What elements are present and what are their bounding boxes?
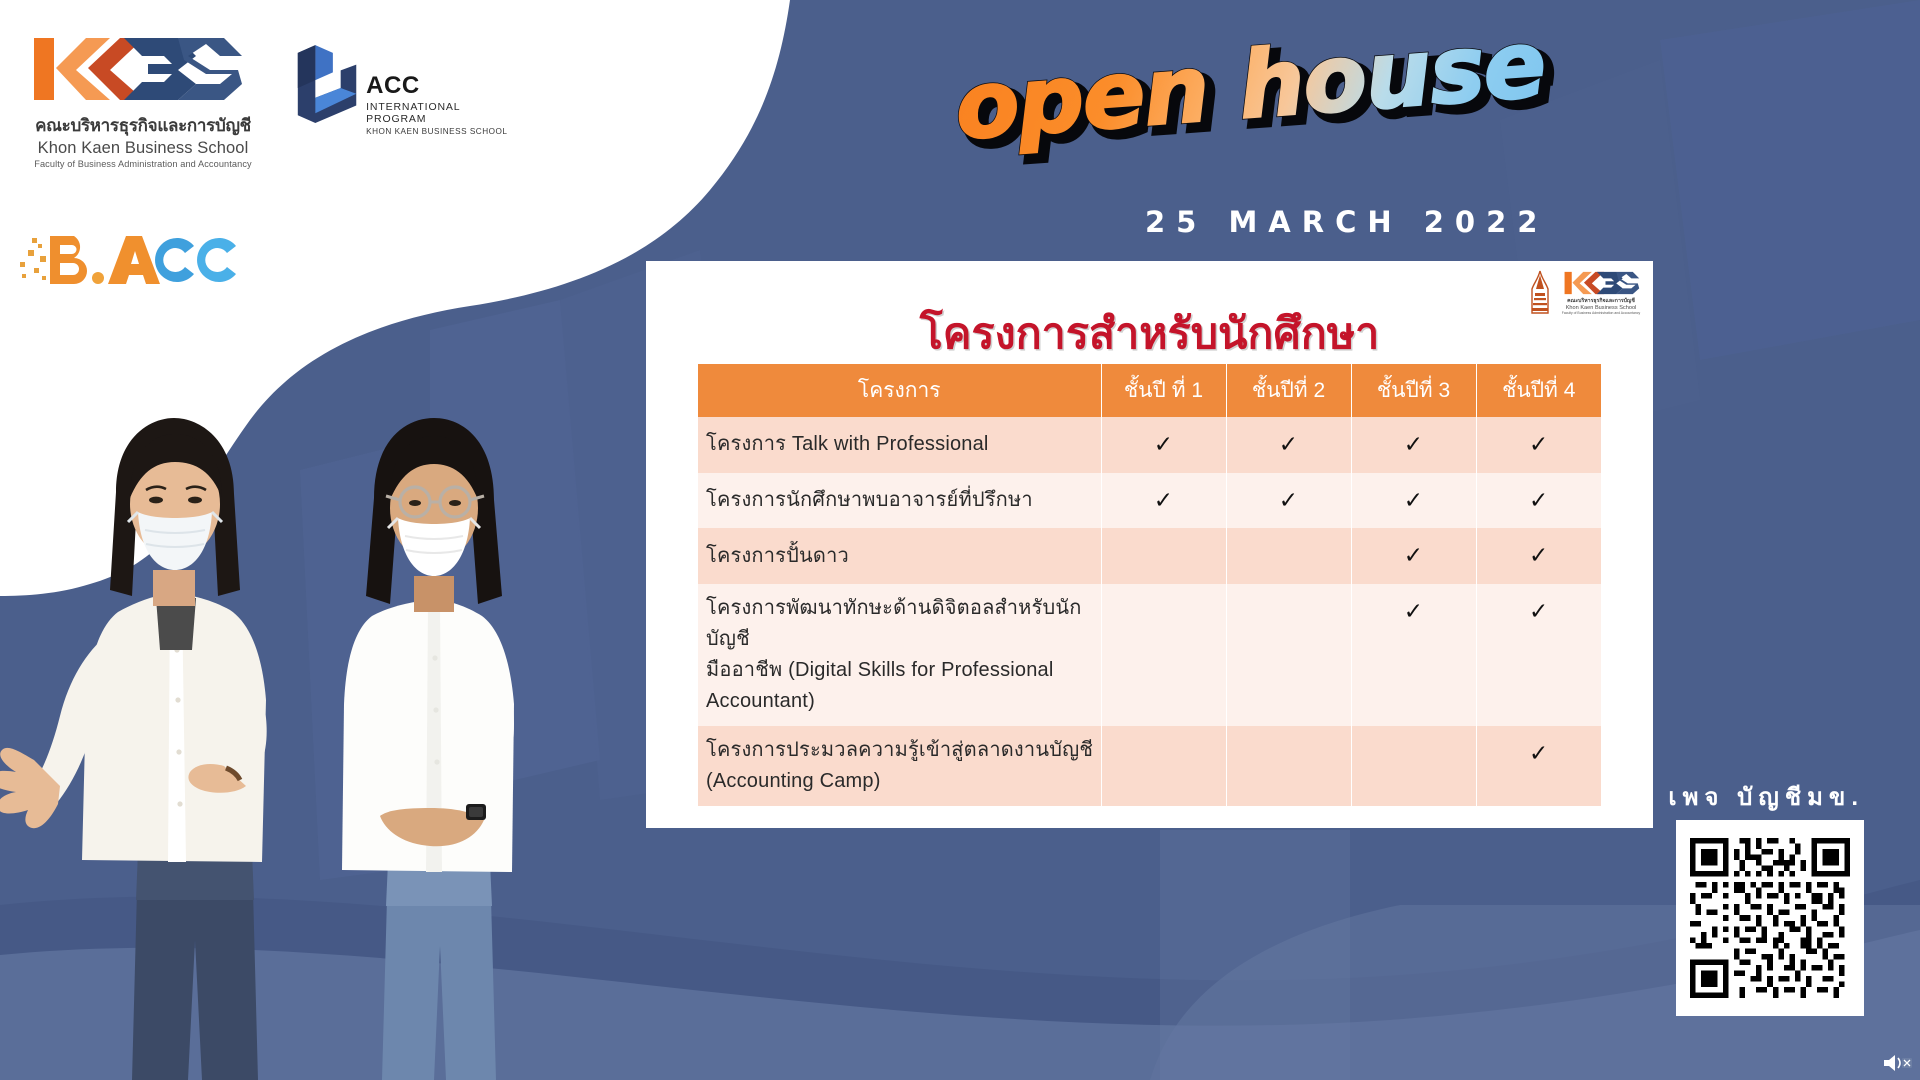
year-1-check — [1101, 584, 1226, 726]
presenter-right — [342, 418, 514, 1080]
acc-school: KHON KAEN BUSINESS SCHOOL — [366, 127, 520, 136]
project-name: โครงการปั้นดาว — [698, 528, 1101, 584]
acc-subtitle: INTERNATIONAL PROGRAM — [366, 101, 520, 125]
qr-label: เพจ บัญชีมข. — [1668, 777, 1864, 816]
bacc-logo-icon — [18, 232, 248, 288]
year-1-check: ✓ — [1101, 473, 1226, 529]
acc-mark-icon — [290, 42, 360, 130]
year-2-check — [1226, 528, 1351, 584]
year-2-check: ✓ — [1226, 473, 1351, 529]
column-header-year-3: ชั้นปีที่ 3 — [1351, 364, 1476, 417]
slide-kkbs-wordmark-icon — [1561, 269, 1641, 297]
presenter-left — [0, 418, 267, 1080]
project-name: โครงการพัฒนาทักษะด้านดิจิตอลสำหรับนักบัญ… — [698, 584, 1101, 726]
year-2-check — [1226, 584, 1351, 726]
qr-code-icon — [1690, 834, 1850, 1002]
table-row: โครงการประมวลความรู้เข้าสู่ตลาดงานบัญชี … — [698, 726, 1601, 806]
table-row: โครงการพัฒนาทักษะด้านดิจิตอลสำหรับนักบัญ… — [698, 584, 1601, 726]
table-header-row: โครงการ ชั้นปี ที่ 1 ชั้นปีที่ 2 ชั้นปีท… — [698, 364, 1601, 417]
year-3-check: ✓ — [1351, 473, 1476, 529]
table-row: โครงการปั้นดาว ✓ ✓ — [698, 528, 1601, 584]
year-3-check: ✓ — [1351, 584, 1476, 726]
speaker-muted-icon[interactable] — [1880, 1050, 1914, 1076]
project-name: โครงการนักศึกษาพบอาจารย์ที่ปรึกษา — [698, 473, 1101, 529]
presentation-slide: คณะบริหารธุรกิจและการบัญชี Khon Kaen Bus… — [646, 261, 1653, 828]
presentation-stage: คณะบริหารธุรกิจและการบัญชี Khon Kaen Bus… — [0, 0, 1920, 1080]
column-header-year-1: ชั้นปี ที่ 1 — [1101, 364, 1226, 417]
column-header-project: โครงการ — [698, 364, 1101, 417]
acc-logo: ACC INTERNATIONAL PROGRAM KHON KAEN BUSI… — [290, 42, 520, 136]
year-2-check: ✓ — [1226, 417, 1351, 473]
acc-title: ACC — [366, 74, 520, 98]
presenter-video-overlay — [0, 400, 610, 1080]
logo-cluster: คณะบริหารธุรกิจและการบัญชี Khon Kaen Bus… — [0, 0, 620, 300]
kkbs-logo: คณะบริหารธุรกิจและการบัญชี Khon Kaen Bus… — [28, 30, 258, 169]
year-4-check: ✓ — [1476, 584, 1601, 726]
year-1-check — [1101, 726, 1226, 806]
project-name: โครงการประมวลความรู้เข้าสู่ตลาดงานบัญชี … — [698, 726, 1101, 806]
year-3-check: ✓ — [1351, 417, 1476, 473]
year-1-check: ✓ — [1101, 417, 1226, 473]
table-row: โครงการนักศึกษาพบอาจารย์ที่ปรึกษา ✓ ✓ ✓ … — [698, 473, 1601, 529]
project-name: โครงการ Talk with Professional — [698, 417, 1101, 473]
year-1-check — [1101, 528, 1226, 584]
projects-table-body: โครงการ Talk with Professional ✓ ✓ ✓ ✓ โ… — [698, 417, 1601, 806]
qr-code[interactable] — [1676, 820, 1864, 1016]
table-row: โครงการ Talk with Professional ✓ ✓ ✓ ✓ — [698, 417, 1601, 473]
kkbs-faculty-line: Faculty of Business Administration and A… — [28, 159, 258, 169]
kkbs-thai-name: คณะบริหารธุรกิจและการบัญชี — [28, 112, 258, 139]
year-3-check — [1351, 726, 1476, 806]
column-header-year-4: ชั้นปีที่ 4 — [1476, 364, 1601, 417]
year-4-check: ✓ — [1476, 528, 1601, 584]
kkbs-english-name: Khon Kaen Business School — [28, 139, 258, 158]
projects-table: โครงการ ชั้นปี ที่ 1 ชั้นปีที่ 2 ชั้นปีท… — [698, 364, 1601, 806]
year-4-check: ✓ — [1476, 473, 1601, 529]
column-header-year-2: ชั้นปีที่ 2 — [1226, 364, 1351, 417]
slide-title: โครงการสำหรับนักศึกษา — [646, 299, 1653, 367]
year-4-check: ✓ — [1476, 726, 1601, 806]
kkbs-wordmark-icon — [28, 30, 243, 108]
event-date: 25 MARCH 2022 — [1145, 205, 1548, 239]
year-3-check: ✓ — [1351, 528, 1476, 584]
year-2-check — [1226, 726, 1351, 806]
year-4-check: ✓ — [1476, 417, 1601, 473]
